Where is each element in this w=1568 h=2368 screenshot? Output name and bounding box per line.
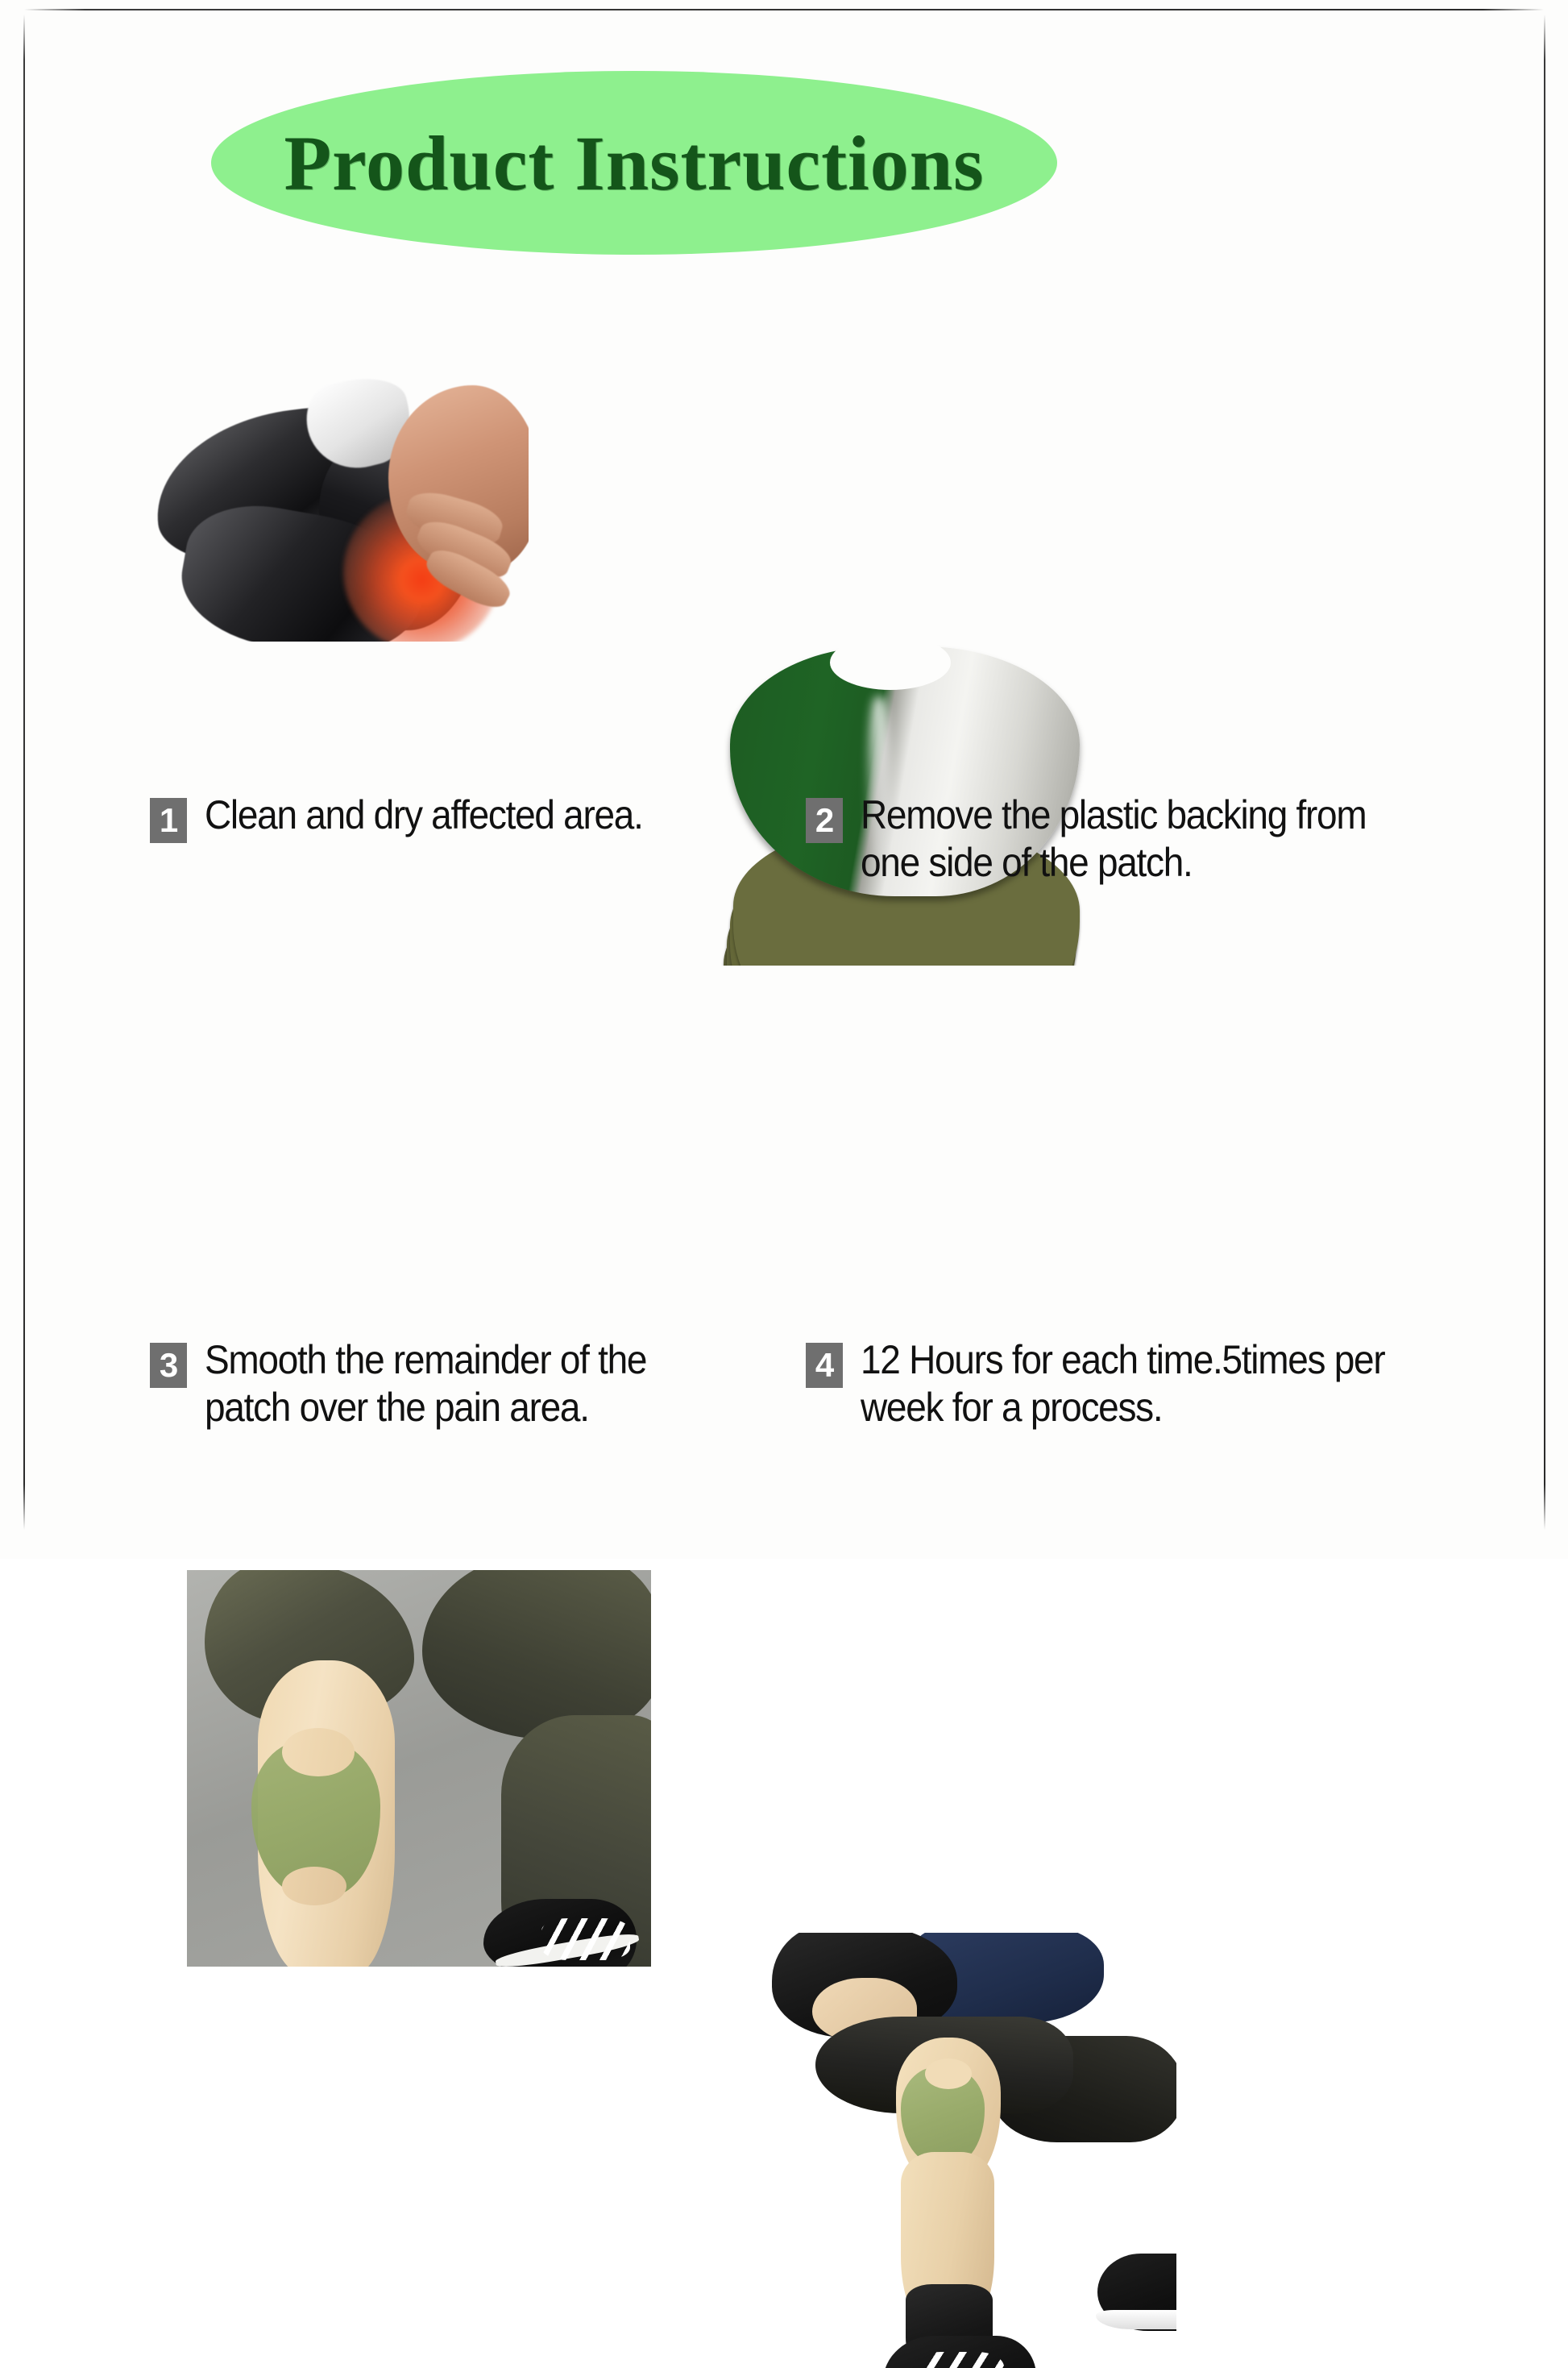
step-3-badge: 3	[150, 1343, 187, 1388]
step-3-caption: 3 Smooth the remainder of the patch over…	[150, 1336, 762, 1431]
sneaker-laces	[541, 1918, 630, 1960]
step-2-caption: 2 Remove the plastic backing from one si…	[806, 791, 1434, 887]
step-4-caption: 4 12 Hours for each time.5times per week…	[806, 1336, 1442, 1431]
frame-top-border	[24, 9, 1544, 10]
step-3-photo	[187, 1570, 651, 1967]
instruction-sheet: Product Instructions 1 Clean and dry aff…	[0, 0, 1568, 1559]
step-1-text: Clean and dry affected area.	[205, 791, 643, 839]
step-4-illustration	[725, 1933, 1176, 2368]
step-1-illustration	[150, 308, 529, 642]
patch-notch	[282, 1728, 355, 1776]
patch-notch	[925, 2058, 972, 2089]
step-2-text: Remove the plastic backing from one side…	[861, 791, 1388, 887]
step-3-text: Smooth the remainder of the patch over t…	[205, 1336, 718, 1431]
frame-left-border	[23, 15, 25, 1530]
page-title: Product Instructions	[284, 118, 985, 208]
step-4-text: 12 Hours for each time.5times per week f…	[861, 1336, 1396, 1431]
title-banner: Product Instructions	[211, 71, 1057, 255]
step-4-badge: 4	[806, 1343, 843, 1388]
sneaker-laces	[914, 2352, 1004, 2368]
patch-notch	[282, 1867, 346, 1905]
step-1-badge: 1	[150, 798, 187, 843]
frame-right-border	[1544, 15, 1545, 1530]
far-sneaker-sole	[1096, 2310, 1176, 2329]
step-1-caption: 1 Clean and dry affected area.	[150, 791, 714, 843]
step-2-badge: 2	[806, 798, 843, 843]
